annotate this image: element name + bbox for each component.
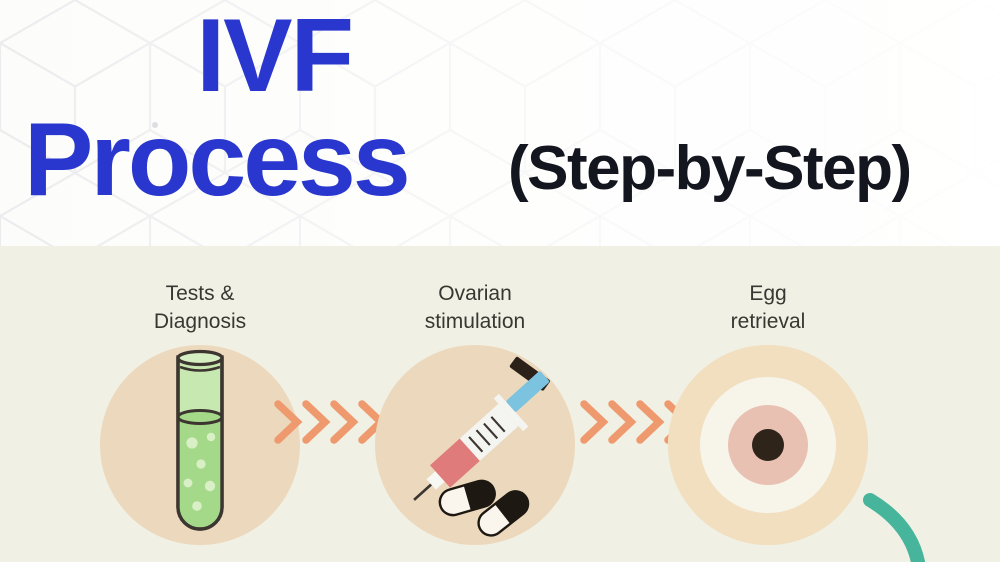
syringe-and-pills-icon <box>375 345 575 545</box>
title-block: IVF Process (Step-by-Step) <box>0 0 1000 246</box>
header-banner: IVF Process (Step-by-Step) <box>0 0 1000 246</box>
step-1-circle <box>100 345 300 545</box>
test-tube-icon <box>100 345 300 545</box>
step-2-circle <box>375 345 575 545</box>
page-title-line-1: IVF <box>196 4 352 108</box>
egg-cell-icon <box>668 345 868 545</box>
step-2-label: Ovarian stimulation <box>345 280 605 337</box>
step-2-ovarian-stimulation[interactable]: Ovarian stimulation <box>345 246 605 562</box>
step-3-circle <box>668 345 868 545</box>
teal-arc-decoration <box>840 472 1000 562</box>
steps-area: Tests & Diagnosis <box>0 246 1000 562</box>
step-3-label: Egg retrieval <box>638 280 898 337</box>
ivf-process-infographic: IVF Process (Step-by-Step) Tests & Diagn… <box>0 0 1000 562</box>
page-title-suffix: (Step-by-Step) <box>508 138 911 200</box>
step-1-label: Tests & Diagnosis <box>70 280 330 337</box>
page-title-line-2: Process <box>24 108 408 212</box>
